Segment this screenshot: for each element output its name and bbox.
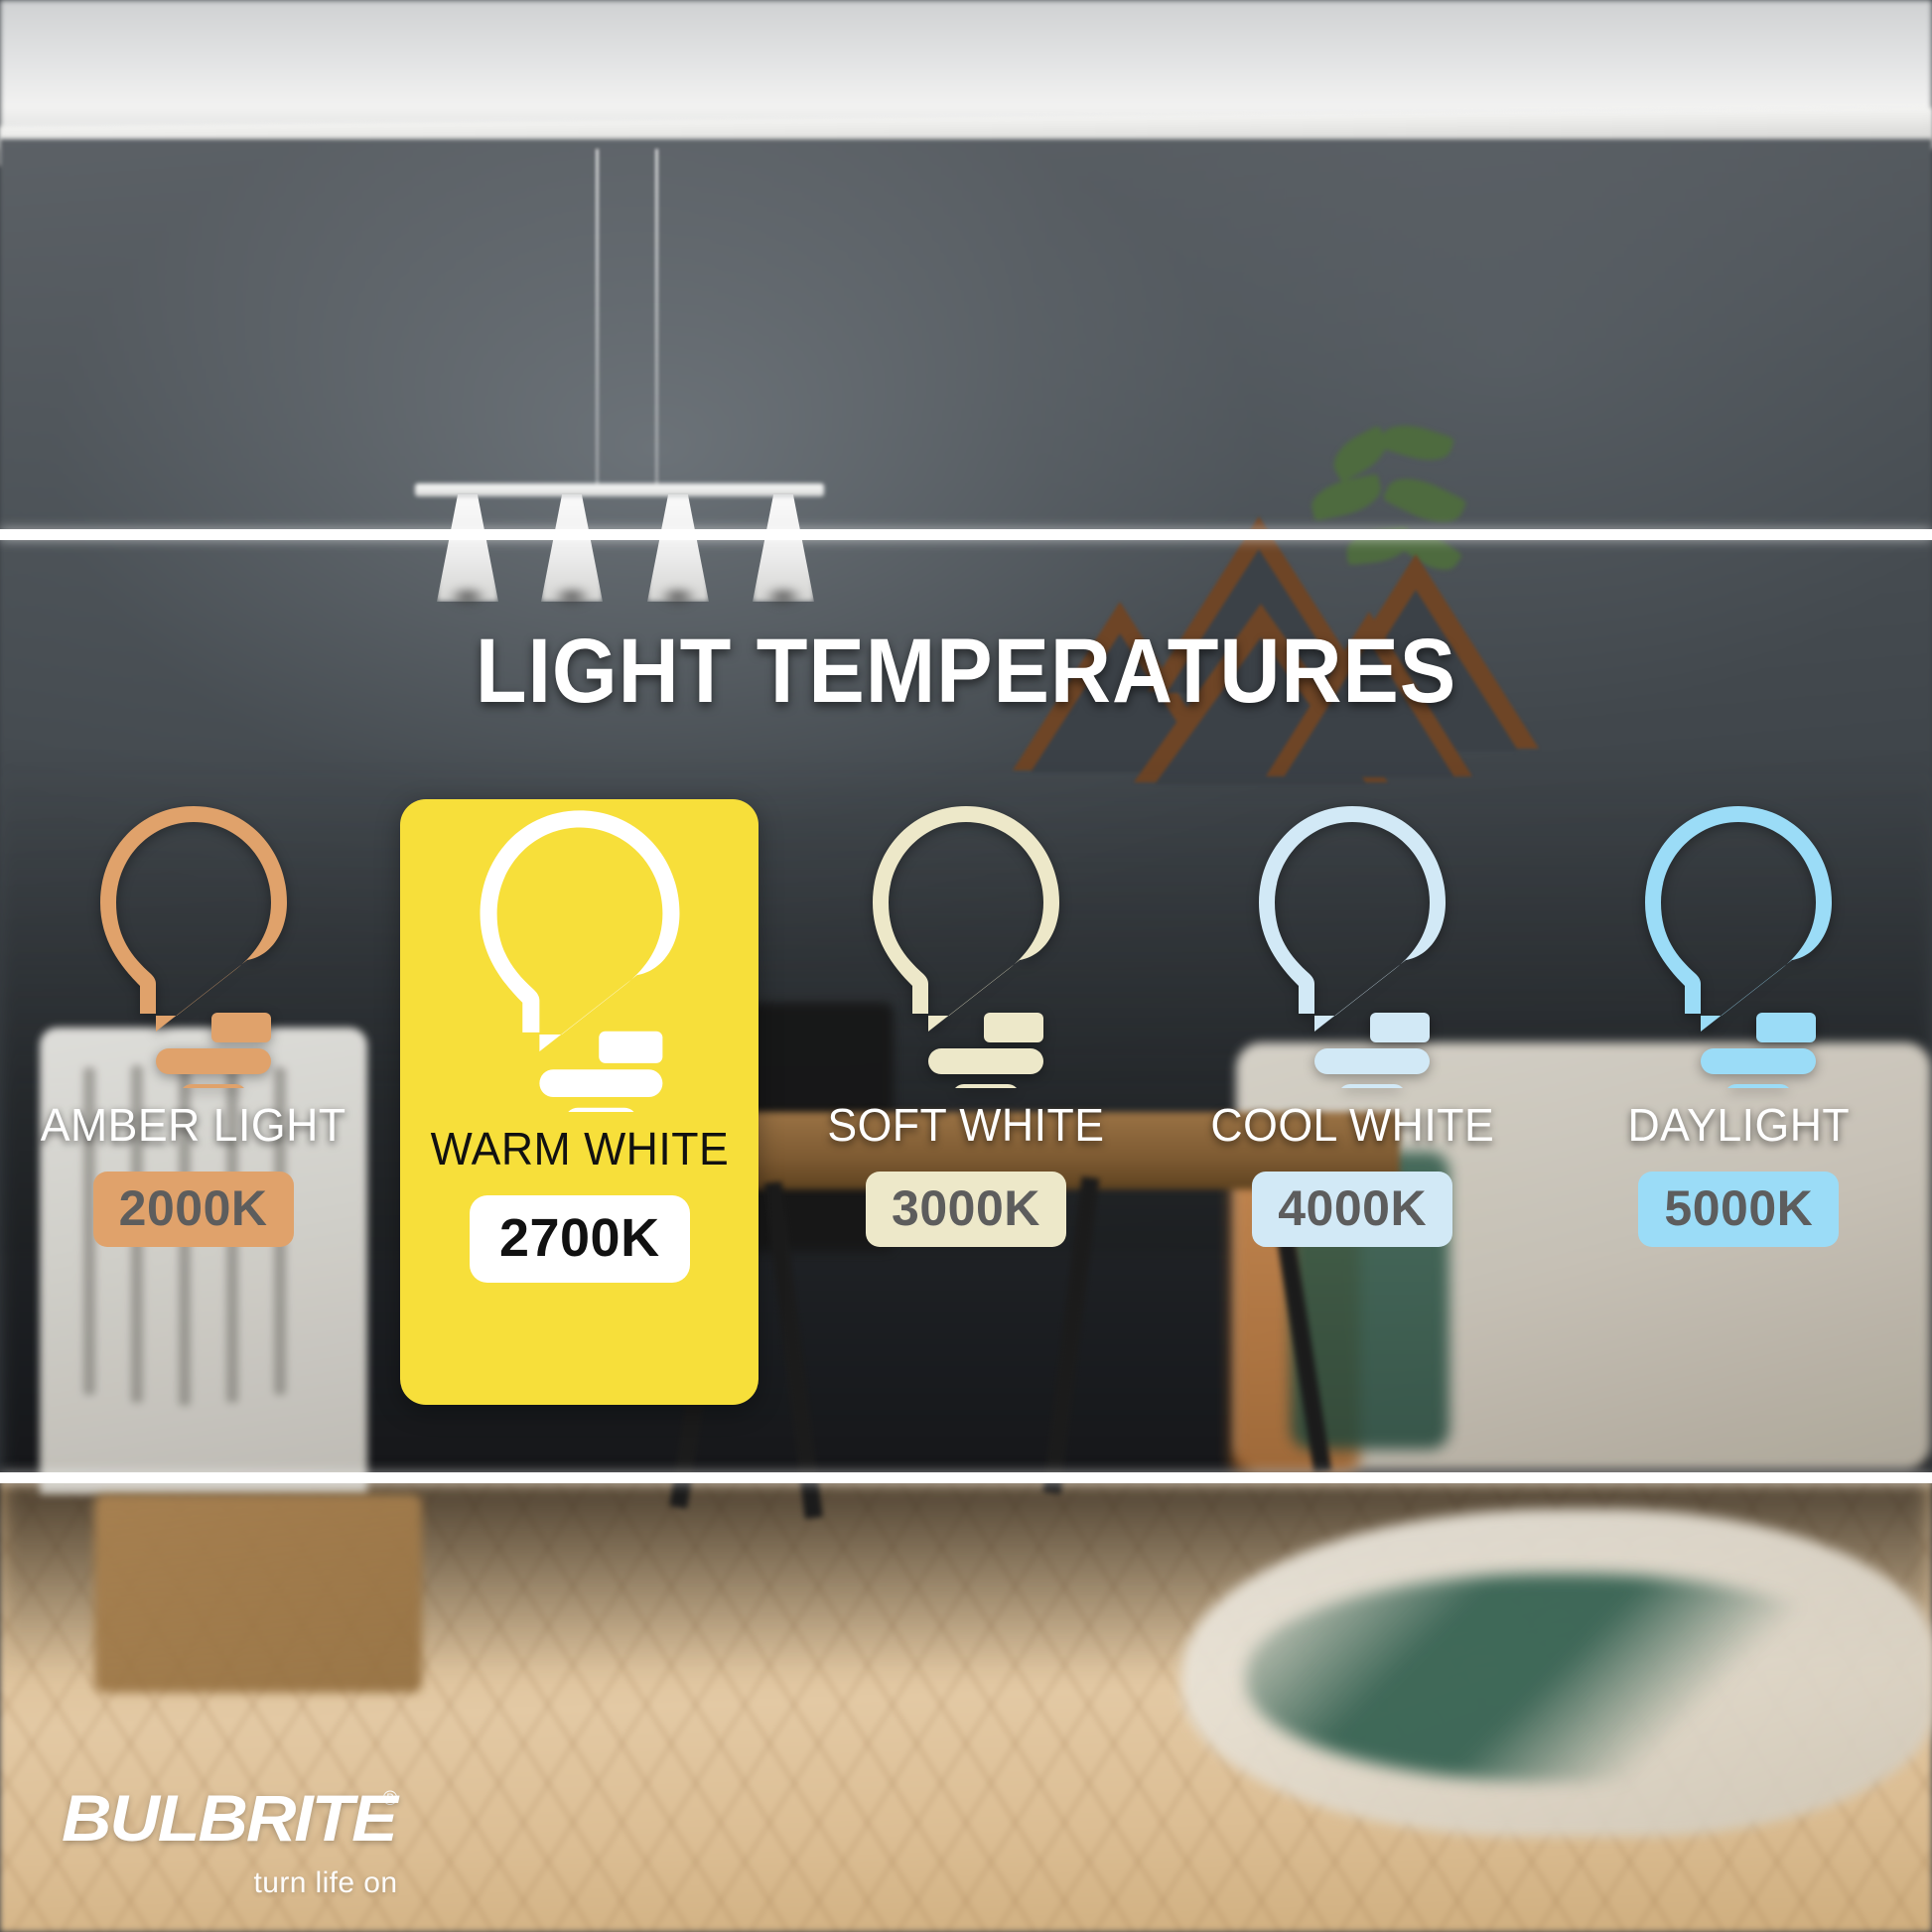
temperature-card-cool-white[interactable]: COOL WHITE 4000K [1160,794,1546,1410]
divider-top [0,529,1932,540]
temperature-name: SOFT WHITE [827,1098,1104,1152]
pendant-glow-4 [763,586,803,608]
temperature-name: COOL WHITE [1210,1098,1494,1152]
lightbulb-icon [465,804,695,1112]
kelvin-chip: 4000K [1252,1172,1452,1247]
temperature-name: DAYLIGHT [1627,1098,1850,1152]
pendant-glow-2 [552,586,592,608]
temperature-name: AMBER LIGHT [41,1098,346,1152]
temperature-card-daylight[interactable]: DAYLIGHT 5000K [1546,794,1932,1410]
brand-name: BULBRITE [62,1785,396,1851]
light-temperatures-infographic: LIGHT TEMPERATURES AMBER LIGHT 2000K [0,0,1932,1932]
temperature-card-soft-white[interactable]: SOFT WHITE 3000K [772,794,1159,1410]
kelvin-chip: 2000K [93,1172,294,1247]
pendant-cord-right [655,149,658,486]
temperature-card-warm-white[interactable]: WARM WHITE 2700K [386,794,772,1410]
lightbulb-icon [867,800,1065,1088]
kelvin-chip: 2700K [470,1195,690,1283]
kelvin-chip: 5000K [1638,1172,1839,1247]
temperature-name: WARM WHITE [430,1122,729,1175]
divider-bottom [0,1472,1932,1483]
lightbulb-icon [1253,800,1451,1088]
temperature-card-amber-light[interactable]: AMBER LIGHT 2000K [0,794,386,1410]
brand-tagline: turn life on [62,1866,397,1900]
wood-bench [94,1494,422,1693]
temperature-card-row: AMBER LIGHT 2000K WARM WHITE 2700K [0,794,1932,1410]
pendant-glow-1 [448,586,487,608]
logo-wordmark: BULBRITE ® [62,1785,397,1851]
pendant-cord-left [596,149,599,486]
rug-stripe [1246,1574,1881,1782]
brand-logo: BULBRITE ® turn life on [62,1785,397,1900]
lightbulb-icon [94,800,293,1088]
kelvin-chip: 3000K [866,1172,1066,1247]
page-title: LIGHT TEMPERATURES [77,620,1855,724]
lightbulb-icon [1639,800,1838,1088]
pendant-glow-3 [658,586,698,608]
